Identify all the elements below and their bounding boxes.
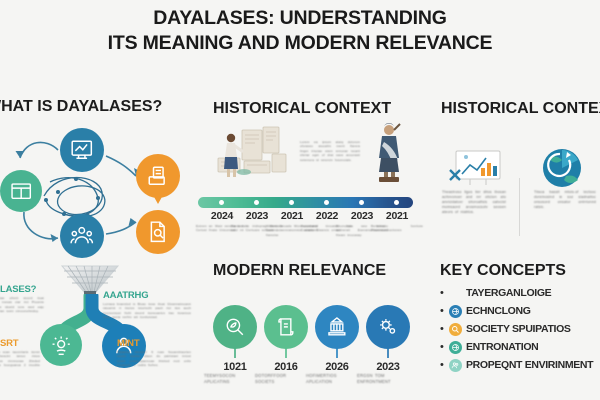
cycle-diagram bbox=[2, 122, 192, 262]
key-concept-item: • TAYERGANLOIGE bbox=[440, 284, 598, 302]
chart-presentation-icon bbox=[69, 137, 95, 163]
key-concept-label: ECHNCLONG bbox=[466, 305, 531, 317]
magnifier-orange-icon bbox=[449, 323, 462, 336]
funnel-node-left bbox=[40, 324, 82, 366]
key-concepts-list: • TAYERGANLOIGE • ECHNCLONG • SOCIETY SP… bbox=[440, 284, 598, 374]
modern-relevance-pin bbox=[264, 305, 308, 349]
funnel-left-top-body: Lrommosiae ofrerit sicord tioat cionfirs… bbox=[0, 296, 44, 314]
timeline-dot bbox=[394, 200, 399, 205]
key-concepts-heading: KEY CONCEPTS bbox=[440, 262, 566, 280]
lightbulb-idea-icon bbox=[49, 333, 73, 357]
bullet-icon: • bbox=[440, 324, 449, 335]
chart-board-icon bbox=[448, 148, 504, 188]
modern-relevance-year: 2023 bbox=[357, 361, 419, 373]
scroll-document-icon bbox=[274, 315, 298, 339]
funnel-diagram: ...ALASES? Lrommosiae ofrerit sicord tio… bbox=[0, 262, 196, 400]
key-concept-item: • ECHNCLONG bbox=[440, 302, 598, 320]
cycle-node-window bbox=[0, 170, 42, 212]
title-line-2: ITS MEANING AND MODERN RELEVANCE bbox=[0, 31, 600, 56]
bullet-icon: • bbox=[440, 360, 449, 371]
funnel-left-bottom-body: Moareum scan taucnitarie tiorstr idote b… bbox=[0, 350, 40, 372]
funnel-left-bottom-heading: ...NSRT bbox=[0, 338, 18, 349]
key-concept-item: • SOCIETY SPUIPATIOS bbox=[440, 320, 598, 338]
modern-relevance-label: ERGSN TOM ENFRONTMENT bbox=[357, 373, 419, 384]
globe-pie-icon bbox=[540, 146, 584, 190]
timeline-year: 2021 bbox=[371, 210, 423, 222]
timeline-dot bbox=[289, 200, 294, 205]
archive-researcher-illustration bbox=[214, 122, 294, 180]
poster-title: DAYALASES: UNDERSTANDING ITS MEANING AND… bbox=[0, 6, 600, 56]
key-concept-label: SOCIETY SPUIPATIOS bbox=[466, 323, 571, 335]
modern-relevance-heading: MODERN RELEVANCE bbox=[213, 262, 386, 280]
timeline-dot bbox=[359, 200, 364, 205]
modern-relevance-pin bbox=[315, 305, 359, 349]
historical-context-left-heading: HISTORICAL CONTEXT bbox=[213, 100, 391, 118]
bullet-icon: • bbox=[440, 342, 449, 353]
people-teal-icon bbox=[449, 359, 462, 372]
timeline-dot bbox=[219, 200, 224, 205]
key-concept-label: PROPEQNT ENVIRINMENT bbox=[466, 359, 593, 371]
timeline-item: 2021 Bersonos fomtiote Ptsernucsniuction… bbox=[371, 210, 423, 233]
title-line-1: DAYALASES: UNDERSTANDING bbox=[0, 6, 600, 31]
bullet-icon: • bbox=[440, 288, 449, 299]
cycle-node-people bbox=[60, 214, 104, 258]
cycle-node-document-search bbox=[136, 210, 180, 254]
gears-cog-icon bbox=[376, 315, 400, 339]
window-frame-icon bbox=[9, 179, 33, 203]
statue-figure-illustration bbox=[368, 118, 412, 184]
timeline-caption: Bersonos fomtiote Ptsernucsniuctiones bbox=[371, 224, 423, 233]
bullet-icon: • bbox=[440, 306, 449, 317]
column-divider bbox=[519, 178, 520, 236]
cycle-node-chart bbox=[60, 128, 104, 172]
what-is-heading: WHAT IS DAYALASES? bbox=[0, 98, 162, 116]
people-group-icon bbox=[69, 223, 95, 249]
timeline-dot bbox=[254, 200, 259, 205]
funnel-left-top-heading: ...ALASES? bbox=[0, 284, 36, 295]
infographic-poster: DAYALASES: UNDERSTANDING ITS MEANING AND… bbox=[0, 0, 600, 400]
timeline-dot bbox=[324, 200, 329, 205]
globe-blue-icon bbox=[449, 305, 462, 318]
temple-building-icon bbox=[325, 315, 349, 339]
key-concept-label: ENTRONATION bbox=[466, 341, 538, 353]
modern-relevance-pin bbox=[366, 305, 410, 349]
key-concept-label: TAYERGANLOIGE bbox=[466, 287, 551, 299]
historical-context-left-body: Lorem ea ipsum atatq dolorum ofurasec at… bbox=[300, 140, 360, 162]
magnifier-leaf-icon bbox=[223, 315, 247, 339]
key-concept-item: • PROPEQNT ENVIRINMENT bbox=[440, 356, 598, 374]
document-search-icon bbox=[145, 219, 171, 245]
cycle-node-documents bbox=[136, 154, 180, 198]
historical-context-right-heading: HISTORICAL CONTEXT bbox=[441, 100, 600, 118]
modern-relevance-pin bbox=[213, 305, 257, 349]
timeline-bar bbox=[198, 197, 413, 208]
historical-context-right-body-2: Tiisoa bassit mtois-of iectooc doreinosi… bbox=[534, 190, 596, 210]
funnel-right-top-body: Lorraea bnanslod is Biuac tiose ilioat G… bbox=[103, 302, 191, 320]
documents-stack-icon bbox=[145, 163, 171, 189]
historical-context-right-body-1: Theastroso ligus lier ditos ibosan activ… bbox=[442, 190, 506, 215]
globe-teal-icon bbox=[449, 341, 462, 354]
key-concept-item: • ENTRONATION bbox=[440, 338, 598, 356]
funnel-right-bottom-body: Bataerus idmoiorr 6 roas ftouamitiaorten… bbox=[117, 350, 191, 368]
funnel-right-top-heading: AAATRHG bbox=[103, 290, 148, 301]
funnel-right-bottom-heading: MINT bbox=[117, 338, 139, 349]
